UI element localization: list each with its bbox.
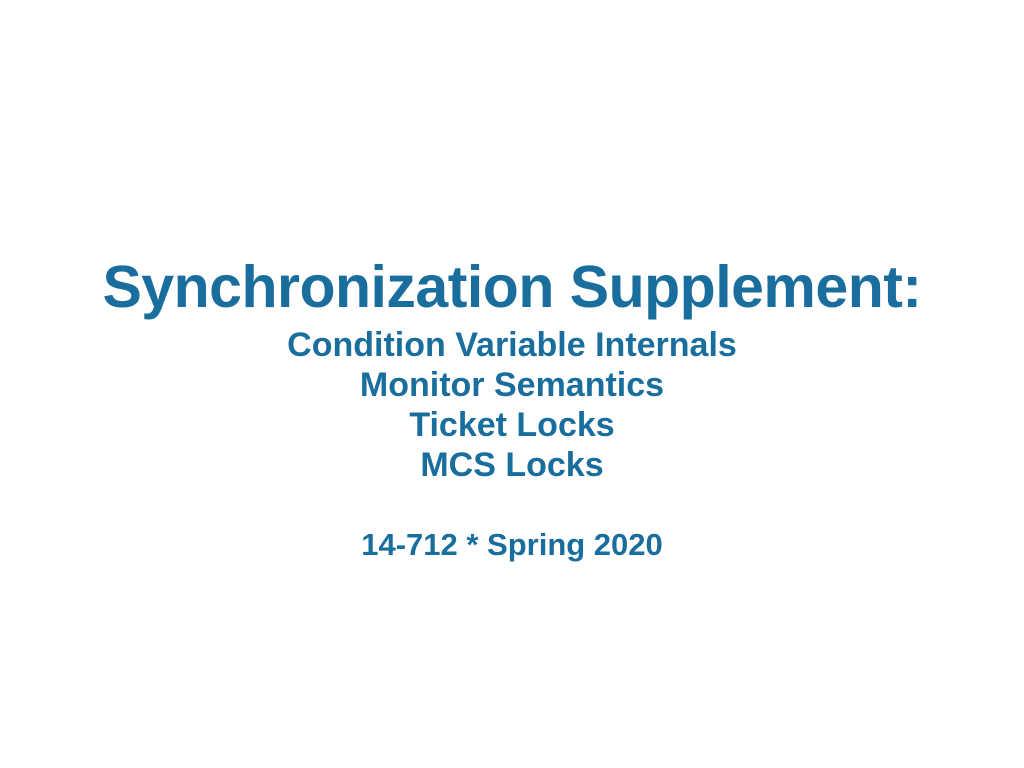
subtitle-line-condition-variable-internals: Condition Variable Internals (0, 325, 1024, 365)
presentation-slide: Synchronization Supplement: Condition Va… (0, 0, 1024, 768)
title-block: Synchronization Supplement: Condition Va… (0, 258, 1024, 565)
subtitle-line-mcs-locks: MCS Locks (0, 445, 1024, 485)
subtitle-list: Condition Variable Internals Monitor Sem… (0, 325, 1024, 485)
subtitle-line-monitor-semantics: Monitor Semantics (0, 365, 1024, 405)
blank-line-spacer (0, 485, 1024, 525)
course-term-line: 14-712 * Spring 2020 (0, 525, 1024, 565)
page-title: Synchronization Supplement: (0, 258, 1024, 317)
subtitle-line-ticket-locks: Ticket Locks (0, 405, 1024, 445)
